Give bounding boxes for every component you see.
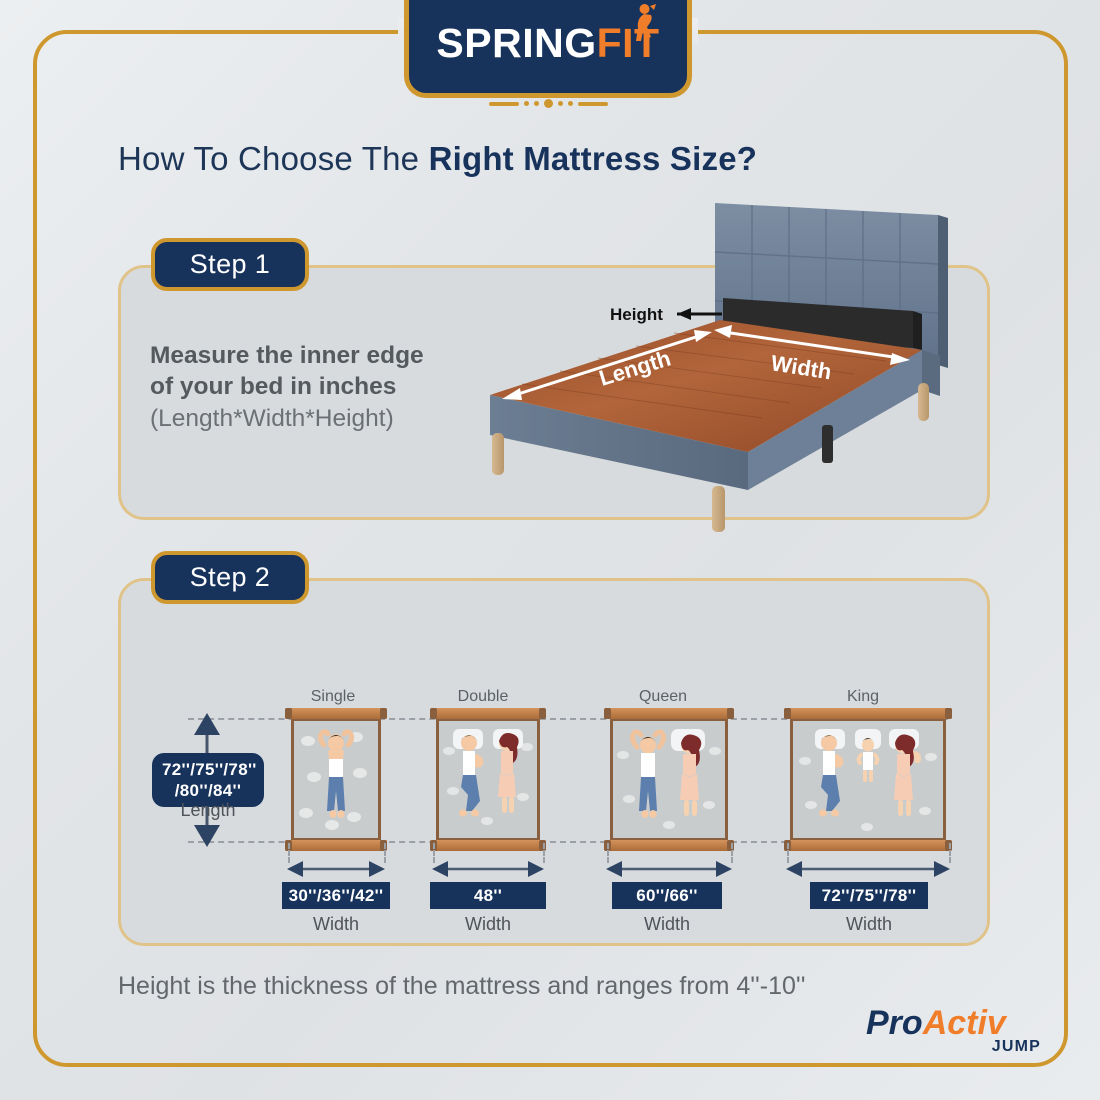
width-tick-left-single xyxy=(288,843,290,863)
mattress-size-diagram: 72''/75''/78'' /80''/84'' Length Single xyxy=(118,578,990,946)
proactiv-wordmark: ProActiv xyxy=(866,1006,1041,1040)
bed-rail-top xyxy=(285,708,387,719)
single-occupant-illustration xyxy=(294,721,378,838)
bed-rail-bottom xyxy=(285,840,387,851)
width-tick-left-king xyxy=(787,843,789,863)
length-caption: Length xyxy=(152,800,264,821)
infographic-page: SPRINGFIT How To Choose The Right Mattre… xyxy=(0,0,1100,1100)
bed-illustration: Height Length Width xyxy=(470,190,990,535)
page-title-plain: How To Choose The xyxy=(118,140,429,177)
mattress-single xyxy=(291,718,381,841)
width-value-single: 30''/36''/42'' xyxy=(282,882,390,909)
width-arrow-single xyxy=(287,860,385,878)
mattress-surface-single xyxy=(294,721,378,838)
logo-word-spring: SPRING xyxy=(436,20,596,66)
logo-text: SPRINGFIT xyxy=(436,23,659,64)
width-tick-right-single xyxy=(384,843,386,863)
width-caption-king: Width xyxy=(810,914,928,935)
logo-word-fit: FIT xyxy=(597,20,660,66)
mattress-surface-king xyxy=(793,721,943,838)
bed-height-label: Height xyxy=(610,305,663,324)
width-caption-queen: Width xyxy=(612,914,722,935)
bed-rail-top xyxy=(430,708,546,719)
width-value-king: 72''/75''/78'' xyxy=(810,882,928,909)
logo-plate: SPRINGFIT xyxy=(404,0,692,98)
width-arrow-king xyxy=(786,860,950,878)
king-occupant-illustration xyxy=(793,721,943,838)
queen-occupant-illustration xyxy=(613,721,725,838)
mattress-double xyxy=(436,718,540,841)
width-value-queen: 60''/66'' xyxy=(612,882,722,909)
width-arrow-queen xyxy=(606,860,732,878)
proactiv-logo: ProActiv JUMP xyxy=(866,1006,1041,1054)
step1-line1: Measure the inner edge xyxy=(150,340,480,371)
width-tick-right-double xyxy=(543,843,545,863)
bed-rail-top xyxy=(784,708,952,719)
size-label-king: King xyxy=(808,688,918,706)
width-tick-left-double xyxy=(433,843,435,863)
mattress-surface-double xyxy=(439,721,537,838)
size-label-queen: Queen xyxy=(608,688,718,706)
size-label-single: Single xyxy=(278,688,388,706)
width-tick-right-queen xyxy=(731,843,733,863)
step1-instructions: Measure the inner edge of your bed in in… xyxy=(150,340,480,436)
length-value-badge: 72''/75''/78'' /80''/84'' xyxy=(152,753,264,807)
width-tick-right-king xyxy=(949,843,951,863)
width-value-double: 48'' xyxy=(430,882,546,909)
proactiv-ctiv: ctiv xyxy=(947,1004,1006,1042)
brand-logo: SPRINGFIT xyxy=(404,0,692,106)
width-tick-left-queen xyxy=(607,843,609,863)
bed-rail-bottom xyxy=(784,840,952,851)
width-caption-double: Width xyxy=(430,914,546,935)
page-title: How To Choose The Right Mattress Size? xyxy=(118,140,757,178)
proactiv-jump: JUMP xyxy=(992,1038,1041,1056)
footer-note: Height is the thickness of the mattress … xyxy=(118,972,805,1001)
proactiv-a: A xyxy=(923,1004,948,1042)
step1-badge: Step 1 xyxy=(151,238,309,291)
bed-svg: Height Length Width xyxy=(470,190,990,535)
width-arrow-double xyxy=(432,860,544,878)
mattress-queen xyxy=(610,718,728,841)
jumping-person-icon xyxy=(631,3,657,47)
bed-rail-bottom xyxy=(604,840,734,851)
bed-rail-top xyxy=(604,708,734,719)
mattress-surface-queen xyxy=(613,721,725,838)
size-label-double: Double xyxy=(428,688,538,706)
bed-rail-bottom xyxy=(430,840,546,851)
proactiv-pro: Pro xyxy=(866,1004,923,1042)
mattress-king xyxy=(790,718,946,841)
page-title-bold: Right Mattress Size? xyxy=(429,140,758,177)
step1-line3: (Length*Width*Height) xyxy=(150,402,480,436)
double-occupant-illustration xyxy=(439,721,537,838)
width-caption-single: Width xyxy=(282,914,390,935)
step1-line2: of your bed in inches xyxy=(150,371,480,402)
logo-decorative-dots xyxy=(488,98,608,109)
length-value-line2: /80''/84'' xyxy=(175,781,241,800)
length-value-line1: 72''/75''/78'' xyxy=(162,760,257,779)
